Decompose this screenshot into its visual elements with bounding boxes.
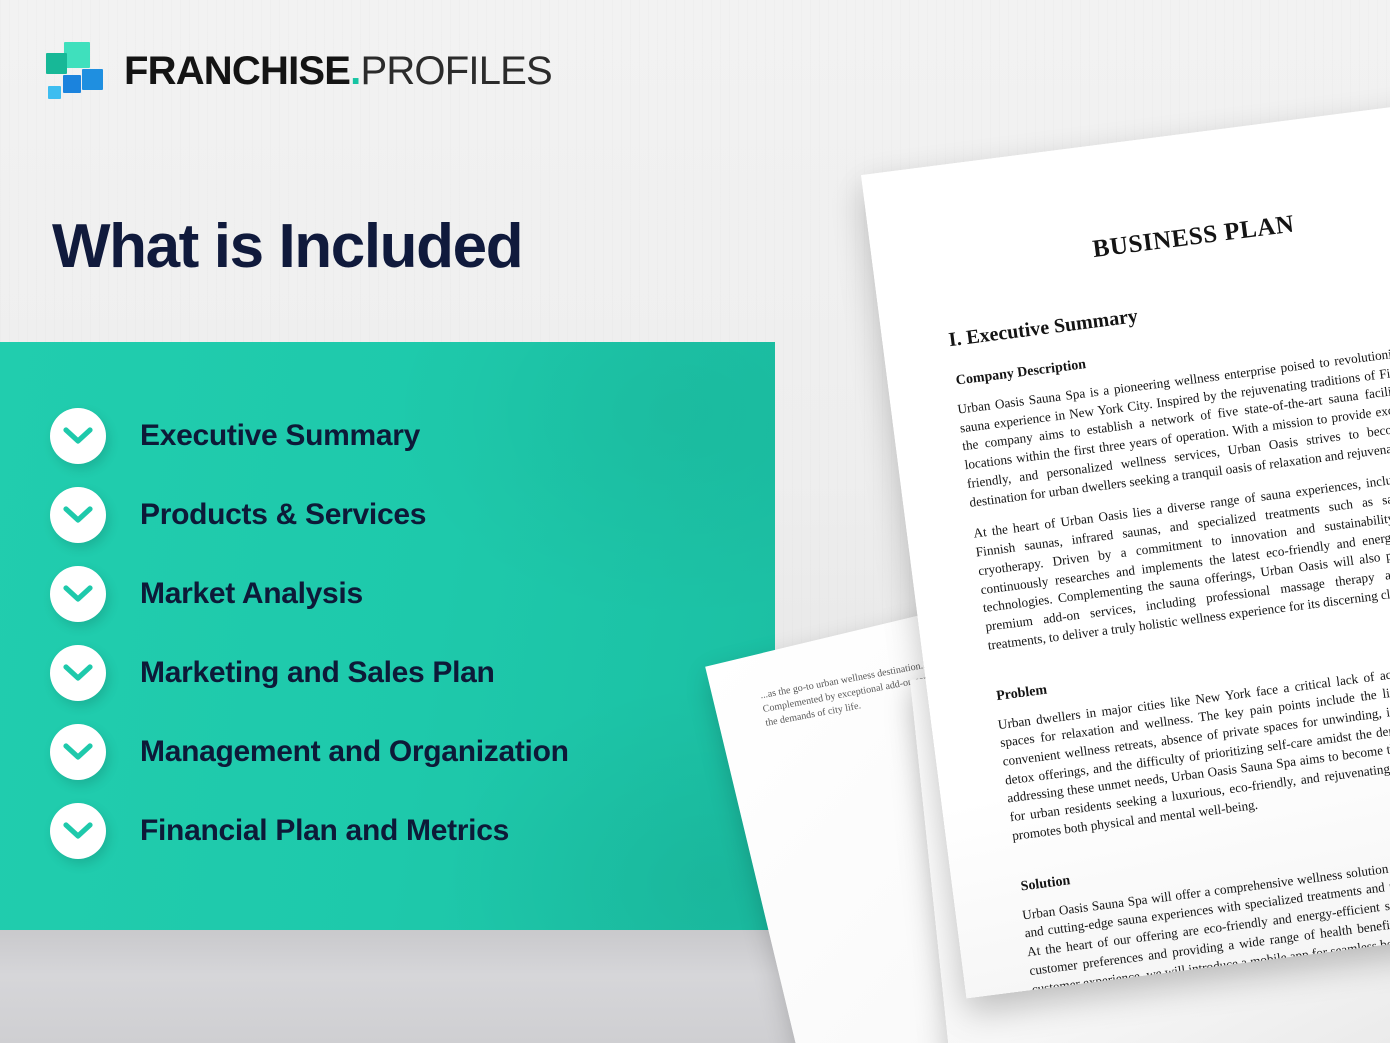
feature-label: Management and Organization — [140, 735, 569, 769]
chevron-down-icon[interactable] — [50, 408, 106, 464]
document-content: BUSINESS PLAN I. Executive Summary Compa… — [920, 155, 1390, 998]
feature-label: Financial Plan and Metrics — [140, 814, 509, 848]
chevron-down-icon[interactable] — [50, 724, 106, 780]
logo-square-2 — [46, 53, 67, 74]
logo-word-dot: . — [350, 49, 360, 93]
logo-square-4 — [63, 75, 81, 93]
feature-label: Marketing and Sales Plan — [140, 656, 495, 690]
logo-word-light: PROFILES — [360, 49, 551, 93]
document-stack: ...as the go-to urban wellness destinati… — [660, 120, 1390, 1043]
feature-label: Executive Summary — [140, 419, 420, 453]
feature-list: Executive Summary Products & Services Ma… — [0, 342, 775, 930]
document-title: BUSINESS PLAN — [924, 189, 1390, 285]
logo-square-5 — [48, 86, 61, 99]
logo-wordmark: FRANCHISE.PROFILES — [124, 51, 552, 91]
chevron-down-icon[interactable] — [50, 645, 106, 701]
brand-logo[interactable]: FRANCHISE.PROFILES — [46, 42, 552, 100]
logo-word-bold: FRANCHISE — [124, 49, 350, 93]
logo-square-3 — [82, 69, 103, 90]
logo-squares-icon — [46, 42, 108, 100]
slide-root: FRANCHISE.PROFILES What is Included Exec… — [0, 0, 1390, 1043]
feature-label: Products & Services — [140, 498, 426, 532]
page-title: What is Included — [52, 214, 522, 279]
chevron-down-icon[interactable] — [50, 803, 106, 859]
feature-label: Market Analysis — [140, 577, 363, 611]
logo-square-1 — [64, 42, 90, 68]
chevron-down-icon[interactable] — [50, 487, 106, 543]
chevron-down-icon[interactable] — [50, 566, 106, 622]
